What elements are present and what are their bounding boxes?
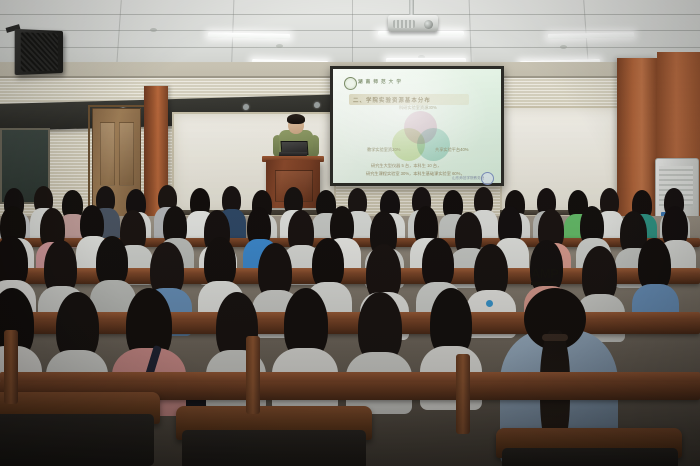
projector-lens-icon (424, 20, 433, 29)
venn-label-right: 共享实验平台40% (435, 147, 469, 153)
bench-row-3-top (0, 312, 700, 320)
slide-body-line-2: 研究生课程实验室 30%，本科生基础课实验室 60%， (366, 171, 465, 177)
projector-mount-pole (409, 0, 414, 16)
door-panel (119, 122, 134, 186)
chair-pad-foreground-center (182, 430, 366, 466)
slide-title: 二、学院实验资源基本分布 (353, 96, 431, 104)
hair-tie (542, 334, 568, 341)
projector-vent (393, 20, 415, 28)
white-polo-logo (486, 300, 493, 307)
venn-label-top: 科研实验室资源30% (399, 105, 437, 111)
amp-shirt-arrow-icon (531, 282, 557, 285)
bench-row-3 (0, 318, 700, 334)
bench-row-2-top (0, 372, 700, 382)
university-seal-icon (344, 77, 357, 90)
slide-university-name: 湖 南 师 范 大 学 (358, 79, 402, 85)
slide-footnote: 山东师范学院教务处 (452, 176, 484, 181)
amp-shirt-print: AMP (531, 266, 558, 281)
chair-pad-foreground-right (502, 448, 678, 466)
door-panel (100, 122, 115, 186)
chair-stile (456, 354, 470, 434)
chair-stile (246, 336, 260, 414)
wall-speaker-grille (21, 32, 58, 71)
chair-pad-foreground-left (0, 414, 154, 466)
chair-stile (4, 330, 18, 404)
venn-circle-right (417, 128, 450, 161)
lecture-hall-photo: 湖 南 师 范 大 学 二、学院实验资源基本分布 科研实验室资源30% 教学实验… (0, 0, 700, 466)
venn-label-left: 教学实验室资20% (367, 147, 401, 153)
slide-body-line-1: 研究生大型仪器 5 台，本科生 10 台， (371, 163, 441, 169)
presenter-hair (287, 114, 305, 124)
